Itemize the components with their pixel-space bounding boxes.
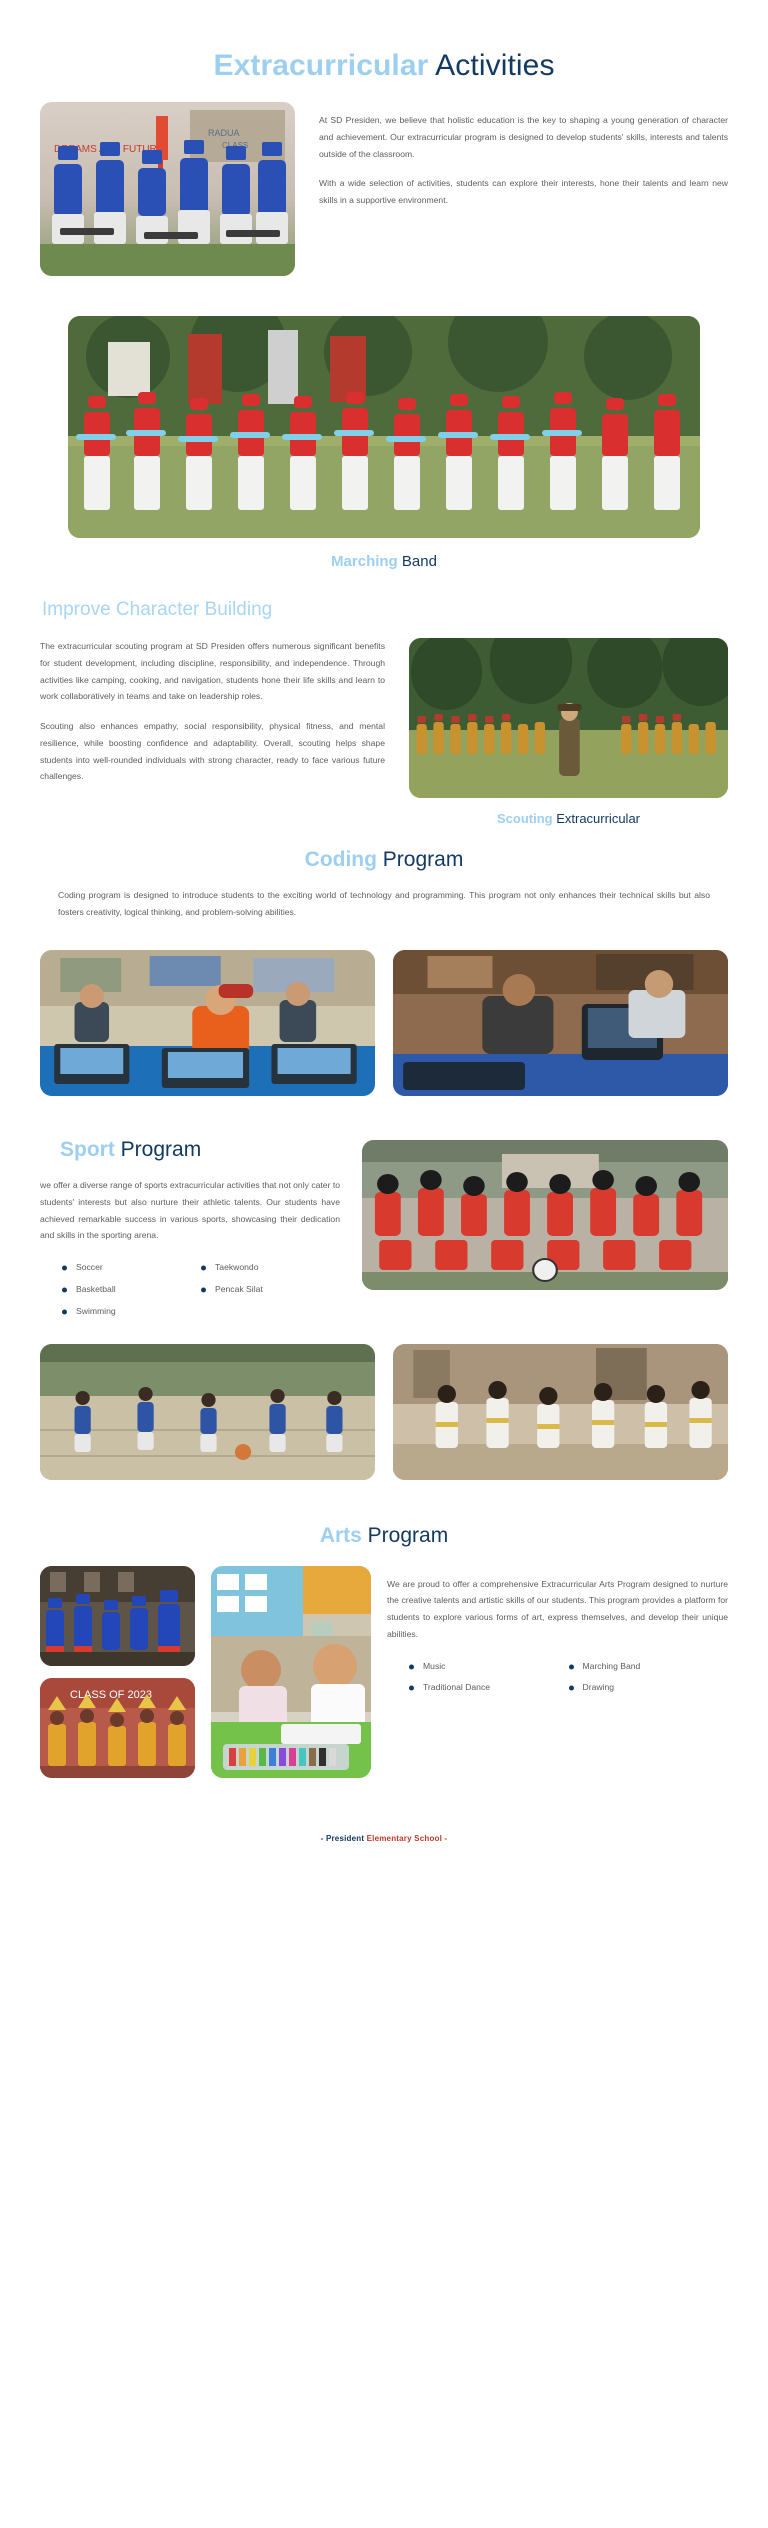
marching-band-caption-rest: Band <box>398 553 437 570</box>
intro-text: At SD Presiden, we believe that holistic… <box>319 102 728 209</box>
arts-image-traditional-dance: CLASS OF 2023 <box>40 1678 195 1778</box>
character-building-section: Improve Character Building The extracurr… <box>0 572 768 829</box>
svg-text:CLASS OF 2023: CLASS OF 2023 <box>70 1689 152 1701</box>
character-paragraph-2: Scouting also enhances empathy, social r… <box>40 718 385 785</box>
sport-text: Sport Program we offer a diverse range o… <box>40 1136 340 1323</box>
coding-title: Coding Program <box>40 846 728 873</box>
list-item: Basketball <box>62 1279 201 1301</box>
marching-band-section: Marching Band <box>0 276 768 572</box>
coding-title-rest: Program <box>377 848 463 871</box>
page-title-rest: Activities <box>428 49 554 82</box>
footer-navy-text: - President <box>321 1834 367 1843</box>
arts-image-drawing <box>211 1566 371 1778</box>
arts-text: We are proud to offer a comprehensive Ex… <box>387 1566 728 1700</box>
svg-text:RADUA: RADUA <box>208 128 240 138</box>
sport-activity-list: Soccer Taekwondo Basketball Pencak Silat… <box>40 1257 340 1322</box>
arts-title: Arts Program <box>40 1522 728 1549</box>
character-building-title: Improve Character Building <box>40 598 728 623</box>
sport-title-rest: Program <box>115 1138 201 1161</box>
list-item: Marching Band <box>569 1656 729 1678</box>
page-title: Extracurricular Activities <box>0 0 768 94</box>
character-paragraph-1: The extracurricular scouting program at … <box>40 638 385 705</box>
coding-title-accent: Coding <box>305 848 377 871</box>
marching-band-caption-accent: Marching <box>331 553 398 570</box>
intro-image: RADUA CLASS DREAMS AND FUTURE <box>40 102 295 276</box>
intro-section: RADUA CLASS DREAMS AND FUTURE <box>0 94 768 276</box>
list-item: Taekwondo <box>201 1257 340 1279</box>
intro-paragraph-2: With a wide selection of activities, stu… <box>319 175 728 209</box>
list-item: Soccer <box>62 1257 201 1279</box>
page-title-accent: Extracurricular <box>213 49 428 82</box>
sport-title-accent: Sport <box>60 1138 115 1161</box>
scouting-caption: Scouting Extracurricular <box>409 798 728 828</box>
sport-image-basketball <box>40 1344 375 1480</box>
arts-image-stack: CLASS OF 2023 <box>40 1566 195 1778</box>
footer: - President Elementary School - <box>0 1778 768 1869</box>
sport-image-pencak-silat <box>393 1344 728 1480</box>
arts-activity-list: Music Marching Band Traditional Dance Dr… <box>387 1656 728 1700</box>
intro-paragraph-1: At SD Presiden, we believe that holistic… <box>319 112 728 162</box>
list-item: Music <box>409 1656 569 1678</box>
coding-image-1 <box>40 950 375 1096</box>
list-item: Swimming <box>62 1301 201 1323</box>
arts-title-accent: Arts <box>320 1524 362 1547</box>
page-root: Extracurricular Activities RADUA CLASS D… <box>0 0 768 1869</box>
sport-section: Sport Program we offer a diverse range o… <box>0 1096 768 1481</box>
arts-title-rest: Program <box>362 1524 448 1547</box>
sport-title: Sport Program <box>40 1136 340 1163</box>
marching-band-image <box>68 316 700 538</box>
list-item: Pencak Silat <box>201 1279 340 1301</box>
character-building-text: The extracurricular scouting program at … <box>40 638 385 785</box>
scouting-caption-accent: Scouting <box>497 811 553 826</box>
arts-section: Arts Program <box>0 1480 768 1777</box>
coding-image-2 <box>393 950 728 1096</box>
arts-paragraph: We are proud to offer a comprehensive Ex… <box>387 1576 728 1643</box>
arts-image-marching-band <box>40 1566 195 1666</box>
marching-band-caption: Marching Band <box>68 538 700 572</box>
sport-team-image <box>362 1140 728 1290</box>
scouting-image <box>409 638 728 798</box>
list-item: Traditional Dance <box>409 1677 569 1699</box>
coding-paragraph: Coding program is designed to introduce … <box>40 887 728 921</box>
sport-paragraph: we offer a diverse range of sports extra… <box>40 1177 340 1244</box>
scouting-caption-rest: Extracurricular <box>553 811 640 826</box>
coding-section: Coding Program Coding program is designe… <box>0 828 768 1096</box>
list-item: Drawing <box>569 1677 729 1699</box>
footer-red-text: Elementary School - <box>367 1834 448 1843</box>
